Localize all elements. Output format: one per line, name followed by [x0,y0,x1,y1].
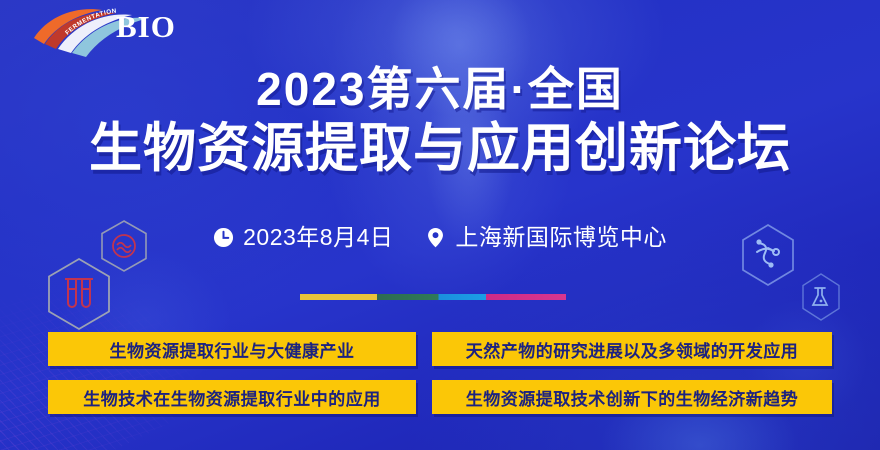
topic-item[interactable]: 生物资源提取行业与大健康产业 [48,332,416,366]
event-meta-row: 2023年8月4日 上海新国际博览中心 [0,222,880,252]
bio-logo: FERMENTATION BIO [28,4,203,62]
conference-banner: FERMENTATION BIO [0,0,880,450]
topic-list: 生物资源提取行业与大健康产业 天然产物的研究进展以及多领域的开发应用 生物技术在… [48,332,832,414]
hex-flask-right [796,272,846,322]
title-block: 2023第六届·全国 生物资源提取与应用创新论坛 [0,62,880,180]
title-line-2: 生物资源提取与应用创新论坛 [0,118,880,180]
event-venue: 上海新国际博览中心 [425,222,667,252]
event-venue-text: 上海新国际博览中心 [455,222,667,252]
clock-icon [213,227,234,248]
topic-item[interactable]: 生物技术在生物资源提取行业中的应用 [48,380,416,414]
color-divider [300,294,566,300]
location-pin-icon [425,227,446,248]
topic-item[interactable]: 生物资源提取技术创新下的生物经济新趋势 [432,380,832,414]
hex-testtubes-left [40,255,118,333]
topic-item[interactable]: 天然产物的研究进展以及多领域的开发应用 [432,332,832,366]
logo-wordmark: BIO [116,9,176,44]
event-date-text: 2023年8月4日 [243,222,393,252]
event-date: 2023年8月4日 [213,222,393,252]
title-line-1: 2023第六届·全国 [0,62,880,116]
